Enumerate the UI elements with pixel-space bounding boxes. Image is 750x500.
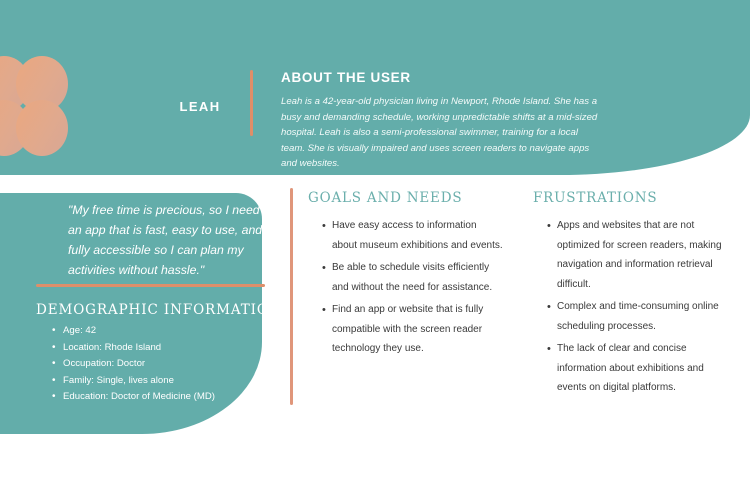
goals-title: GOALS AND NEEDS bbox=[308, 190, 503, 206]
persona-name: LEAH bbox=[150, 99, 250, 114]
list-item: Family: Single, lives alone bbox=[52, 373, 267, 390]
demographic-information-title: DEMOGRAPHIC INFORMATION bbox=[36, 302, 282, 318]
avatar bbox=[28, 44, 140, 160]
list-item: Age: 42 bbox=[52, 323, 267, 340]
list-item: Complex and time-consuming online schedu… bbox=[547, 297, 733, 336]
frustrations-title: FRUSTRATIONS bbox=[533, 190, 733, 206]
goals-and-needs-section: GOALS AND NEEDS Have easy access to info… bbox=[308, 190, 503, 362]
list-item: The lack of clear and concise informatio… bbox=[547, 339, 733, 398]
about-text: Leah is a 42-year-old physician living i… bbox=[281, 94, 601, 172]
persona-quote: "My free time is precious, so I need an … bbox=[68, 201, 273, 281]
column-vertical-divider bbox=[290, 188, 293, 405]
frustrations-section: FRUSTRATIONS Apps and websites that are … bbox=[533, 190, 733, 401]
quote-divider-rule bbox=[36, 284, 265, 287]
header-vertical-divider bbox=[250, 70, 253, 136]
list-item: Occupation: Doctor bbox=[52, 356, 267, 373]
list-item: Location: Rhode Island bbox=[52, 340, 267, 357]
list-item: Education: Doctor of Medicine (MD) bbox=[52, 389, 267, 406]
list-item: Find an app or website that is fully com… bbox=[322, 300, 503, 359]
avatar-petal-bottom-right bbox=[76, 94, 140, 160]
header-band: LEAH ABOUT THE USER Leah is a 42-year-ol… bbox=[0, 0, 750, 175]
goals-list: Have easy access to information about mu… bbox=[308, 216, 503, 359]
list-item: Have easy access to information about mu… bbox=[322, 216, 503, 255]
list-item: Be able to schedule visits efficiently a… bbox=[322, 258, 503, 297]
list-item: Apps and websites that are not optimized… bbox=[547, 216, 733, 294]
persona-infographic: LEAH ABOUT THE USER Leah is a 42-year-ol… bbox=[0, 0, 750, 500]
demographic-list: Age: 42 Location: Rhode Island Occupatio… bbox=[52, 323, 267, 406]
about-title: ABOUT THE USER bbox=[281, 70, 601, 85]
frustrations-list: Apps and websites that are not optimized… bbox=[533, 216, 733, 398]
about-the-user-section: ABOUT THE USER Leah is a 42-year-old phy… bbox=[281, 70, 601, 172]
